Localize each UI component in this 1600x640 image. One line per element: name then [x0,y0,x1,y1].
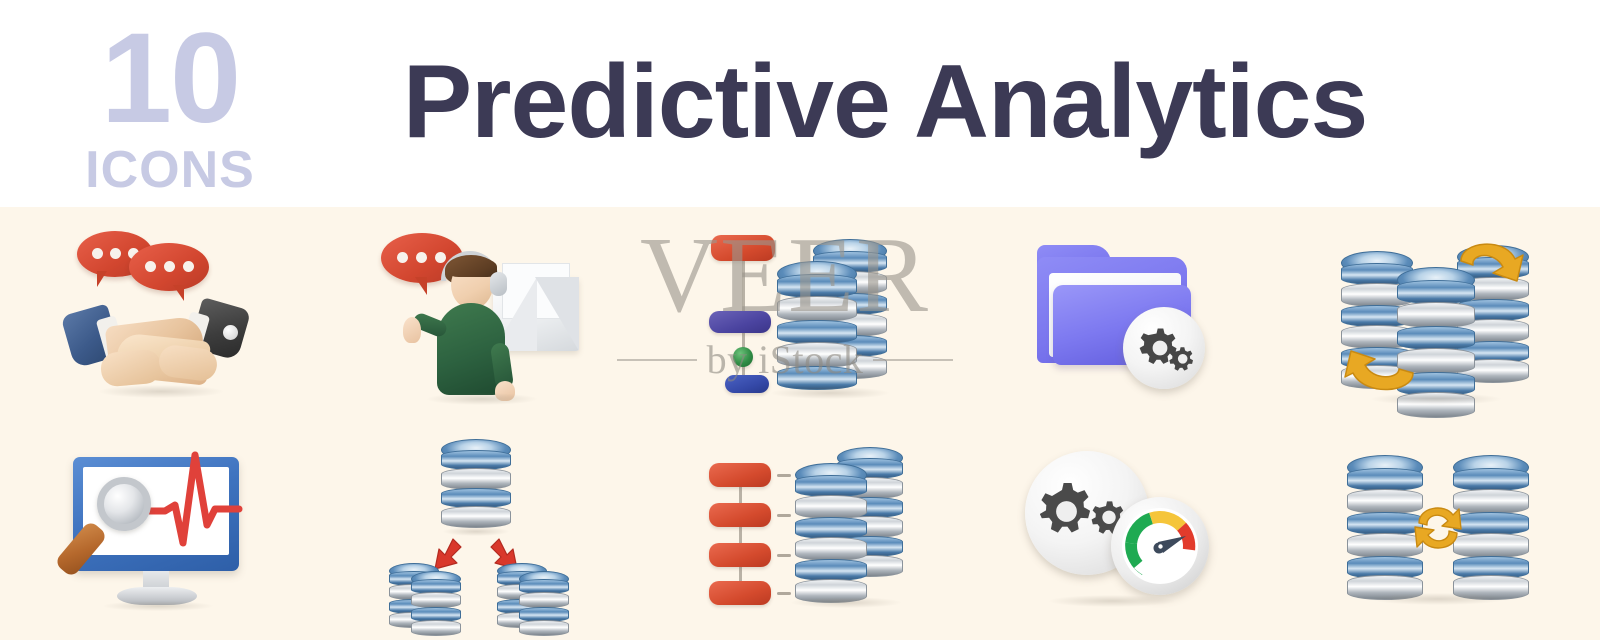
database-stack-front [777,261,857,385]
flow-node-green [733,347,753,367]
icon-shadow [791,597,901,608]
database-replication-icon [1335,435,1545,620]
icon-shadow [1371,593,1505,605]
icon-count-label: ICONS [60,144,280,196]
flow-node-red [711,235,775,261]
icon-cell-schema-flow[interactable] [640,212,960,422]
icon-shadow [1049,595,1175,607]
database-distribution-icon [375,435,585,620]
icon-cell-monitoring[interactable] [0,422,320,632]
icon-shadow [771,387,889,399]
icon-cell-folder-settings[interactable] [960,212,1280,422]
mapping-dash-2 [777,514,791,517]
database-stack-front [795,463,867,595]
database-schema-flow-icon [695,225,905,410]
mapping-node-3 [709,543,771,567]
icon-count-block: 10 ICONS [60,18,280,196]
agent-hair-fringe [449,257,497,277]
agent-hand-pointing [403,317,421,343]
mapping-dash-4 [777,592,791,595]
icon-shadow [1371,393,1501,405]
folder-settings-icon [1015,225,1225,410]
icon-shadow [427,393,537,405]
database-source [441,439,511,525]
settings-badge [1123,307,1205,389]
icon-count-number: 10 [60,18,280,140]
database-mapping-icon [695,435,905,620]
negotiation-handshake-icon [55,225,265,410]
icon-grid [0,212,1600,632]
mapping-dash-3 [777,554,791,557]
icon-cell-db-sync-cluster[interactable] [1280,212,1600,422]
performance-gauge [1111,497,1209,595]
icon-cell-performance-tuning[interactable] [960,422,1280,632]
performance-tuning-icon [1015,435,1225,620]
icon-cell-support-agent[interactable] [320,212,640,422]
watch-dot [223,325,238,340]
flow-node-purple [709,311,771,333]
icon-shadow [103,601,213,611]
gauge-dial-icon [1120,506,1200,586]
fingers-left [100,348,163,387]
icon-cell-negotiation[interactable] [0,212,320,422]
icon-cell-db-distribution[interactable] [320,422,640,632]
icon-cell-db-mapping[interactable] [640,422,960,632]
database-target-right-front [519,571,569,631]
magnifier-lens-icon [97,477,151,531]
customer-support-agent-icon [375,225,585,410]
gear-icon [1134,324,1194,372]
page-title: Predictive Analytics [370,48,1400,157]
chat-bubble-right-icon [129,243,209,291]
icon-set-page: 10 ICONS Predictive Analytics [0,0,1600,640]
icon-cell-db-replication[interactable] [1280,422,1600,632]
mapping-node-2 [709,503,771,527]
sync-arrow-bottom-icon [1341,329,1421,399]
mapping-connector [739,479,742,589]
headset-earpiece [490,272,507,296]
icon-shadow [99,385,223,398]
sync-arrow-top-icon [1453,235,1527,303]
mapping-node-1 [709,463,771,487]
mapping-dash-1 [777,474,791,477]
database-target-left-front [411,571,461,631]
flow-node-blue [725,375,769,393]
database-sync-cluster-icon [1335,225,1545,410]
mapping-node-4 [709,581,771,605]
monitoring-analysis-icon [55,435,265,620]
replication-sync-arrows-icon [1409,497,1467,559]
